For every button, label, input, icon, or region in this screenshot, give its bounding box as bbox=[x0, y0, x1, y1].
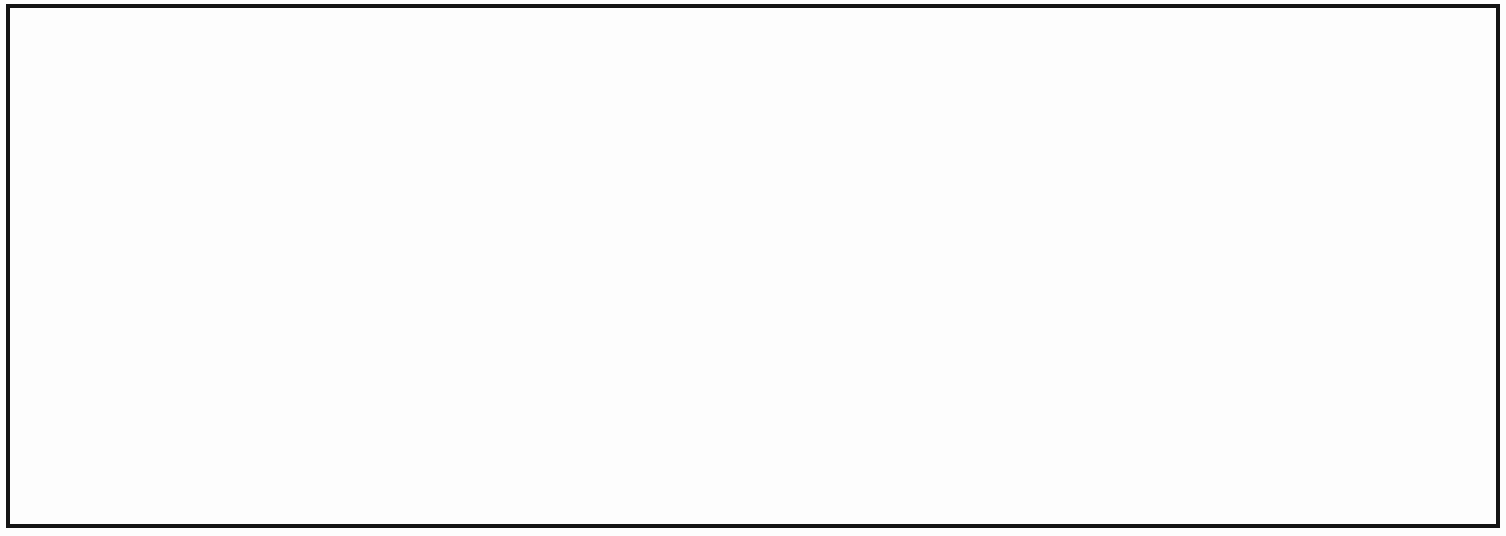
logical-table-cell-c1: c1 bbox=[157, 192, 224, 238]
column-layout-cell-a2: a2 bbox=[453, 318, 527, 362]
column-layout-cell-a5: a5 bbox=[672, 318, 746, 362]
column-layout-cell-b5: b5 bbox=[1037, 318, 1111, 362]
column-layout-cell-a4: a4 bbox=[599, 318, 673, 362]
logical-table-cell-a3: a3 bbox=[23, 284, 90, 330]
row-layout-cell-b5: b5 bbox=[1329, 84, 1403, 128]
column-layout-cell-c3: c3 bbox=[1256, 318, 1330, 362]
column-layout-cell-b3: b3 bbox=[891, 318, 965, 362]
logical-table-cell-c3: c3 bbox=[157, 284, 224, 330]
row-layout-cell-a4: a4 bbox=[1037, 84, 1111, 128]
logical-table-cell-c5: c5 bbox=[157, 376, 224, 422]
column-layout-cell-c5: c5 bbox=[1402, 318, 1476, 362]
column-layout-cell-b1: b1 bbox=[745, 318, 819, 362]
encoding-label: encoding bbox=[1352, 404, 1474, 438]
logical-table: abca1b1c1a2b2c2a3b3c3a4b4c4a5b5c5 bbox=[22, 142, 224, 422]
encoded-chunk-3: encoded chunk bbox=[1123, 462, 1490, 512]
logical-table-title: Logical table representation bbox=[24, 16, 324, 85]
encoded-chunk-2: encoded chunk bbox=[752, 462, 1124, 512]
row-layout-cell-b3: b3 bbox=[891, 84, 965, 128]
row-layout-cell-c5: c5 bbox=[1402, 84, 1476, 128]
logical-table-cell-c2: c2 bbox=[157, 238, 224, 284]
column-layout-cell-a3: a3 bbox=[526, 318, 600, 362]
column-layout-cell-b2: b2 bbox=[818, 318, 892, 362]
row-layout-cell-a2: a2 bbox=[599, 84, 673, 128]
row-layout-cell-a5: a5 bbox=[1256, 84, 1330, 128]
row-layout-cell-c3: c3 bbox=[964, 84, 1038, 128]
row-layout-cell-a1: a1 bbox=[380, 84, 454, 128]
logical-table-cell-b4: b4 bbox=[90, 330, 157, 376]
logical-table-header-a: a bbox=[23, 143, 90, 192]
table-row: a2b2c2 bbox=[23, 238, 224, 284]
logical-table-header-b: b bbox=[90, 143, 157, 192]
logical-table-header-c: c bbox=[157, 143, 224, 192]
table-row: a4b4c4 bbox=[23, 330, 224, 376]
row-layout-cell-b1: b1 bbox=[453, 84, 527, 128]
row-layout-title: Row layout bbox=[412, 16, 567, 51]
column-layout-cell-a1: a1 bbox=[380, 318, 454, 362]
logical-table-cell-a2: a2 bbox=[23, 238, 90, 284]
row-layout-cell-b2: b2 bbox=[672, 84, 746, 128]
encoded-chunks-strip: encoded chunkencoded chunkencoded chunk bbox=[388, 462, 1489, 512]
column-layout-strip: a1a2a3a4a5b1b2b3b4b5c1c2c3c4c5 bbox=[380, 318, 1475, 362]
logical-table-cell-b3: b3 bbox=[90, 284, 157, 330]
down-arrow-icon bbox=[935, 400, 939, 438]
encoded-chunk-1: encoded chunk bbox=[388, 462, 753, 512]
row-layout-cell-c2: c2 bbox=[745, 84, 819, 128]
logical-table-cell-b2: b2 bbox=[90, 238, 157, 284]
logical-table-cell-a5: a5 bbox=[23, 376, 90, 422]
table-row: a3b3c3 bbox=[23, 284, 224, 330]
column-layout-title: Column layout bbox=[412, 246, 613, 281]
down-arrow-icon bbox=[1306, 404, 1310, 436]
logical-table-header-row: abc bbox=[23, 143, 224, 192]
row-layout-cell-c4: c4 bbox=[1183, 84, 1257, 128]
logical-table-cell-a4: a4 bbox=[23, 330, 90, 376]
row-layout-strip: a1b1c1a2b2c2a3b3c3a4b4c4a5b5c5 bbox=[380, 84, 1475, 128]
row-layout-cell-b4: b4 bbox=[1110, 84, 1184, 128]
column-layout-cell-c2: c2 bbox=[1183, 318, 1257, 362]
logical-table-cell-b5: b5 bbox=[90, 376, 157, 422]
column-layout-cell-b4: b4 bbox=[964, 318, 1038, 362]
logical-table-cell-a1: a1 bbox=[23, 192, 90, 238]
row-layout-cell-c1: c1 bbox=[526, 84, 600, 128]
column-layout-cell-c1: c1 bbox=[1110, 318, 1184, 362]
column-layout-cell-c4: c4 bbox=[1329, 318, 1403, 362]
logical-table-cell-c4: c4 bbox=[157, 330, 224, 376]
table-row: a5b5c5 bbox=[23, 376, 224, 422]
table-row: a1b1c1 bbox=[23, 192, 224, 238]
row-layout-cell-a3: a3 bbox=[818, 84, 892, 128]
down-arrow-icon bbox=[563, 402, 567, 438]
diagram-canvas: Logical table representation abca1b1c1a2… bbox=[0, 0, 1506, 536]
logical-table-cell-b1: b1 bbox=[90, 192, 157, 238]
